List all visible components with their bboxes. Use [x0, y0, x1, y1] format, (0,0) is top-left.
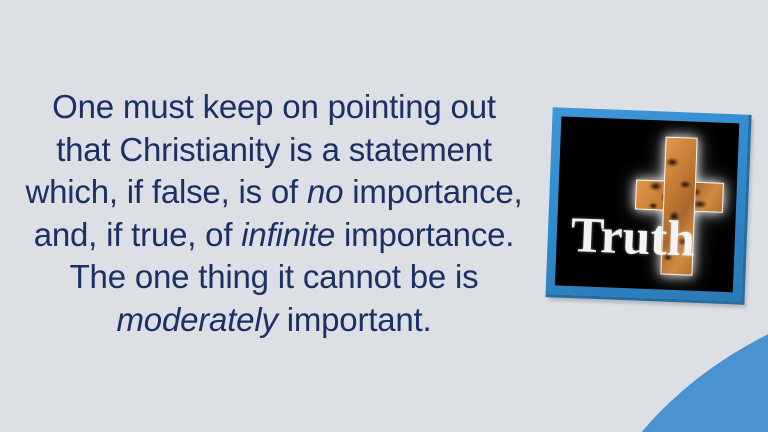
truth-picture: Truth [545, 107, 753, 307]
quote-line-6: moderately important. [0, 299, 548, 342]
picture-frame-border: Truth [545, 107, 751, 304]
emphasis-infinite: infinite [241, 216, 335, 253]
quote-line-2: that Christianity is a statement [0, 129, 548, 172]
truth-wordmark: Truth [570, 209, 696, 264]
quote-line-3: which, if false, is of no importance, [0, 171, 548, 214]
picture-photo-area: Truth [555, 117, 739, 293]
quote-line-5: The one thing it cannot be is [0, 256, 548, 299]
quote-line-1: One must keep on pointing out [0, 86, 548, 129]
emphasis-moderately: moderately [117, 301, 278, 338]
quote-line-4: and, if true, of infinite importance. [0, 214, 548, 257]
emphasis-no: no [307, 173, 343, 210]
slide-canvas: One must keep on pointing out that Chris… [0, 0, 768, 432]
quote-text-block: One must keep on pointing out that Chris… [0, 86, 548, 341]
